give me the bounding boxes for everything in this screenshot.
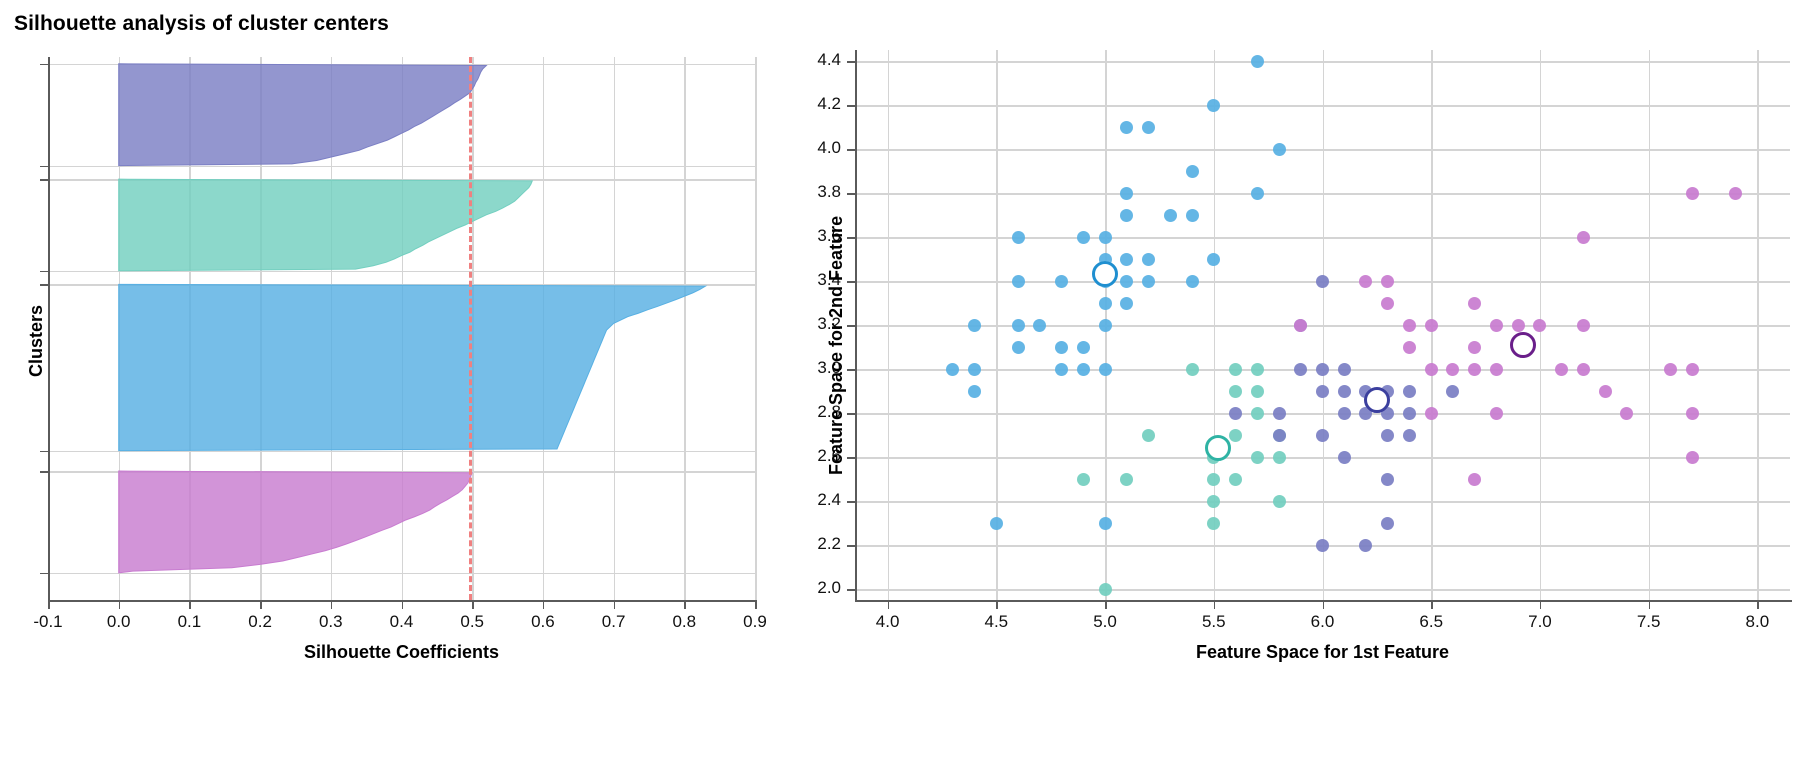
x-axis-tick-label: 0.4 bbox=[362, 612, 442, 632]
y-axis-tick-label: 4.4 bbox=[779, 50, 841, 70]
scatter-point bbox=[1055, 363, 1068, 376]
scatter-point bbox=[968, 363, 981, 376]
gridline-horizontal bbox=[855, 501, 1790, 503]
gridline-horizontal bbox=[855, 457, 1790, 459]
scatter-point bbox=[1381, 429, 1394, 442]
scatter-point bbox=[968, 385, 981, 398]
scatter-point bbox=[1729, 187, 1742, 200]
y-axis-line bbox=[855, 50, 857, 602]
x-axis-tick bbox=[1105, 602, 1107, 609]
gridline-horizontal bbox=[855, 61, 1790, 63]
y-axis-tick bbox=[40, 471, 48, 473]
y-axis-tick bbox=[40, 64, 48, 66]
scatter-point bbox=[1120, 473, 1133, 486]
scatter-point bbox=[1251, 187, 1264, 200]
scatter-point bbox=[1316, 385, 1329, 398]
scatter-point bbox=[1620, 407, 1633, 420]
x-axis-tick bbox=[189, 602, 191, 609]
scatter-point bbox=[1577, 363, 1590, 376]
scatter-point bbox=[1273, 407, 1286, 420]
scatter-point bbox=[1686, 363, 1699, 376]
y-axis-tick bbox=[847, 413, 855, 415]
scatter-point bbox=[1142, 275, 1155, 288]
x-axis-tick-label: 0.8 bbox=[644, 612, 724, 632]
scatter-point bbox=[1055, 341, 1068, 354]
scatter-point bbox=[1229, 363, 1242, 376]
x-axis-tick-label: 5.0 bbox=[1065, 612, 1145, 632]
y-axis-tick bbox=[847, 369, 855, 371]
x-axis-tick bbox=[684, 602, 686, 609]
scatter-point bbox=[1120, 121, 1133, 134]
scatter-point bbox=[1490, 363, 1503, 376]
scatter-point bbox=[1012, 275, 1025, 288]
x-axis-tick bbox=[119, 602, 121, 609]
scatter-point bbox=[1077, 363, 1090, 376]
x-axis-tick-label: -0.1 bbox=[8, 612, 88, 632]
scatter-point bbox=[1381, 297, 1394, 310]
scatter-point bbox=[1381, 275, 1394, 288]
y-axis-tick-label: 4.0 bbox=[779, 138, 841, 158]
x-axis-title: Silhouette Coefficients bbox=[282, 642, 522, 663]
scatter-point bbox=[1273, 495, 1286, 508]
x-axis-tick-label: 0.3 bbox=[291, 612, 371, 632]
scatter-point bbox=[1186, 165, 1199, 178]
scatter-point bbox=[1577, 319, 1590, 332]
scatter-point bbox=[1316, 539, 1329, 552]
scatter-point bbox=[1251, 55, 1264, 68]
scatter-point bbox=[1359, 275, 1372, 288]
scatter-point bbox=[1251, 407, 1264, 420]
scatter-point bbox=[1316, 275, 1329, 288]
scatter-point bbox=[1490, 319, 1503, 332]
x-axis-tick bbox=[888, 602, 890, 609]
x-axis-tick-label: 0.1 bbox=[149, 612, 229, 632]
scatter-point bbox=[1403, 407, 1416, 420]
scatter-point bbox=[1207, 517, 1220, 530]
x-axis-tick bbox=[48, 602, 50, 609]
scatter-point bbox=[1533, 319, 1546, 332]
y-axis-tick bbox=[40, 451, 48, 453]
x-axis-tick-label: 4.5 bbox=[956, 612, 1036, 632]
silhouette-plot-panel: -0.10.00.10.20.30.40.50.60.70.80.9Silhou… bbox=[0, 0, 790, 770]
y-axis-tick bbox=[40, 284, 48, 286]
x-axis-tick-label: 8.0 bbox=[1717, 612, 1797, 632]
x-axis-tick bbox=[1431, 602, 1433, 609]
centroid-marker bbox=[1364, 387, 1390, 413]
scatter-point bbox=[1207, 253, 1220, 266]
scatter-point bbox=[1338, 451, 1351, 464]
x-axis-tick-label: 0.5 bbox=[432, 612, 512, 632]
silhouette-area-cluster-0 bbox=[119, 64, 487, 166]
scatter-point bbox=[1403, 319, 1416, 332]
y-axis-tick bbox=[847, 193, 855, 195]
scatter-point bbox=[1229, 429, 1242, 442]
x-axis-tick-label: 7.0 bbox=[1500, 612, 1580, 632]
scatter-point bbox=[1686, 451, 1699, 464]
x-axis-tick bbox=[1757, 602, 1759, 609]
scatter-point bbox=[1120, 297, 1133, 310]
scatter-point bbox=[990, 517, 1003, 530]
y-axis-tick bbox=[40, 573, 48, 575]
scatter-point bbox=[1207, 99, 1220, 112]
scatter-point bbox=[1686, 187, 1699, 200]
scatter-point bbox=[968, 319, 981, 332]
x-axis-tick bbox=[1649, 602, 1651, 609]
y-axis-tick bbox=[847, 237, 855, 239]
gridline-horizontal bbox=[855, 413, 1790, 415]
scatter-point bbox=[1251, 385, 1264, 398]
scatter-point bbox=[1294, 363, 1307, 376]
scatter-point bbox=[1446, 363, 1459, 376]
scatter-point bbox=[1446, 385, 1459, 398]
scatter-point bbox=[1577, 231, 1590, 244]
x-axis-tick bbox=[996, 602, 998, 609]
scatter-point bbox=[1142, 253, 1155, 266]
y-axis-tick bbox=[40, 179, 48, 181]
y-axis-tick-label: 4.2 bbox=[779, 94, 841, 114]
scatter-point bbox=[1229, 407, 1242, 420]
x-axis-tick-label: 6.5 bbox=[1391, 612, 1471, 632]
scatter-point bbox=[1186, 209, 1199, 222]
x-axis-tick-label: 0.2 bbox=[220, 612, 300, 632]
y-axis-tick-label: 2.0 bbox=[779, 578, 841, 598]
scatter-point bbox=[1686, 407, 1699, 420]
y-axis-tick-label: 2.2 bbox=[779, 534, 841, 554]
scatter-point bbox=[1142, 121, 1155, 134]
scatter-point bbox=[1229, 385, 1242, 398]
y-axis-tick bbox=[847, 61, 855, 63]
scatter-point bbox=[946, 363, 959, 376]
x-axis-title: Feature Space for 1st Feature bbox=[1163, 642, 1483, 663]
x-axis-tick-label: 0.6 bbox=[503, 612, 583, 632]
y-axis-title: Clusters bbox=[26, 304, 47, 376]
y-axis-tick bbox=[847, 501, 855, 503]
y-axis-tick bbox=[847, 325, 855, 327]
x-axis-tick-label: 0.0 bbox=[79, 612, 159, 632]
average-silhouette-line bbox=[469, 57, 472, 600]
y-axis-tick-label: 2.4 bbox=[779, 490, 841, 510]
gridline-horizontal bbox=[855, 237, 1790, 239]
scatter-point bbox=[1077, 473, 1090, 486]
scatter-point bbox=[1381, 517, 1394, 530]
scatter-point bbox=[1273, 451, 1286, 464]
scatter-point bbox=[1555, 363, 1568, 376]
gridline-horizontal bbox=[855, 589, 1790, 591]
silhouette-area-cluster-3 bbox=[119, 471, 473, 573]
gridline-horizontal bbox=[855, 105, 1790, 107]
x-axis-tick bbox=[1323, 602, 1325, 609]
x-axis-tick bbox=[755, 602, 757, 609]
scatter-point bbox=[1120, 209, 1133, 222]
x-axis-tick-label: 4.0 bbox=[848, 612, 928, 632]
scatter-point bbox=[1077, 341, 1090, 354]
x-axis-tick bbox=[1540, 602, 1542, 609]
scatter-point bbox=[1338, 363, 1351, 376]
scatter-point bbox=[1425, 363, 1438, 376]
y-axis-tick bbox=[40, 271, 48, 273]
x-axis-tick bbox=[614, 602, 616, 609]
scatter-point bbox=[1207, 473, 1220, 486]
scatter-point bbox=[1142, 429, 1155, 442]
scatter-point bbox=[1012, 319, 1025, 332]
x-axis-tick-label: 0.7 bbox=[574, 612, 654, 632]
scatter-point bbox=[1403, 341, 1416, 354]
x-axis-tick-label: 5.5 bbox=[1174, 612, 1254, 632]
scatter-point bbox=[1403, 385, 1416, 398]
scatter-point bbox=[1120, 253, 1133, 266]
x-axis-tick-label: 0.9 bbox=[715, 612, 795, 632]
x-axis-tick bbox=[1214, 602, 1216, 609]
gridline-horizontal bbox=[855, 193, 1790, 195]
scatter-point bbox=[1468, 473, 1481, 486]
scatter-point bbox=[1490, 407, 1503, 420]
scatter-point bbox=[1186, 275, 1199, 288]
scatter-point bbox=[1468, 341, 1481, 354]
scatter-point bbox=[1273, 429, 1286, 442]
x-axis-tick-label: 6.0 bbox=[1283, 612, 1363, 632]
gridline-horizontal bbox=[855, 149, 1790, 151]
scatter-point bbox=[1099, 363, 1112, 376]
x-axis-tick bbox=[260, 602, 262, 609]
scatter-point bbox=[1012, 341, 1025, 354]
scatter-point bbox=[1186, 363, 1199, 376]
scatter-point bbox=[1099, 297, 1112, 310]
scatter-point bbox=[1425, 319, 1438, 332]
x-axis-tick bbox=[543, 602, 545, 609]
scatter-point bbox=[1164, 209, 1177, 222]
scatter-point bbox=[1120, 187, 1133, 200]
y-axis-tick bbox=[847, 149, 855, 151]
y-axis-tick bbox=[847, 545, 855, 547]
scatter-point bbox=[1599, 385, 1612, 398]
scatter-point bbox=[1468, 297, 1481, 310]
scatter-point bbox=[1468, 363, 1481, 376]
scatter-point bbox=[1055, 275, 1068, 288]
scatter-point bbox=[1338, 385, 1351, 398]
y-axis-tick bbox=[847, 589, 855, 591]
scatter-point bbox=[1012, 231, 1025, 244]
y-axis-tick bbox=[847, 281, 855, 283]
scatter-point bbox=[1316, 429, 1329, 442]
scatter-point bbox=[1664, 363, 1677, 376]
centroid-marker bbox=[1510, 332, 1536, 358]
centroid-marker bbox=[1092, 261, 1118, 287]
silhouette-analysis-figure: Silhouette analysis of cluster centers -… bbox=[0, 0, 1802, 770]
scatter-point bbox=[1381, 473, 1394, 486]
scatter-point bbox=[1099, 517, 1112, 530]
scatter-point bbox=[1273, 143, 1286, 156]
silhouette-area-cluster-2 bbox=[119, 284, 706, 450]
scatter-point bbox=[1251, 363, 1264, 376]
gridline-horizontal bbox=[855, 325, 1790, 327]
x-axis-tick bbox=[472, 602, 474, 609]
scatter-plot-panel: 4.04.55.05.56.06.57.07.58.02.02.22.42.62… bbox=[790, 0, 1802, 770]
y-axis-title: Feature Space for 2nd Feature bbox=[826, 216, 847, 475]
scatter-point bbox=[1120, 275, 1133, 288]
scatter-point bbox=[1099, 319, 1112, 332]
scatter-point bbox=[1207, 495, 1220, 508]
scatter-point bbox=[1425, 407, 1438, 420]
scatter-point bbox=[1229, 473, 1242, 486]
y-axis-line bbox=[48, 57, 50, 602]
scatter-point bbox=[1403, 429, 1416, 442]
scatter-point bbox=[1251, 451, 1264, 464]
scatter-point bbox=[1099, 583, 1112, 596]
scatter-point bbox=[1359, 539, 1372, 552]
scatter-point bbox=[1294, 319, 1307, 332]
scatter-point bbox=[1316, 363, 1329, 376]
scatter-point bbox=[1099, 231, 1112, 244]
scatter-point bbox=[1512, 319, 1525, 332]
scatter-point bbox=[1338, 407, 1351, 420]
y-axis-tick-label: 3.8 bbox=[779, 182, 841, 202]
y-axis-tick bbox=[40, 166, 48, 168]
x-axis-tick-label: 7.5 bbox=[1609, 612, 1689, 632]
x-axis-tick bbox=[402, 602, 404, 609]
y-axis-tick bbox=[847, 105, 855, 107]
scatter-point bbox=[1077, 231, 1090, 244]
x-axis-tick bbox=[331, 602, 333, 609]
scatter-point bbox=[1033, 319, 1046, 332]
y-axis-tick bbox=[847, 457, 855, 459]
